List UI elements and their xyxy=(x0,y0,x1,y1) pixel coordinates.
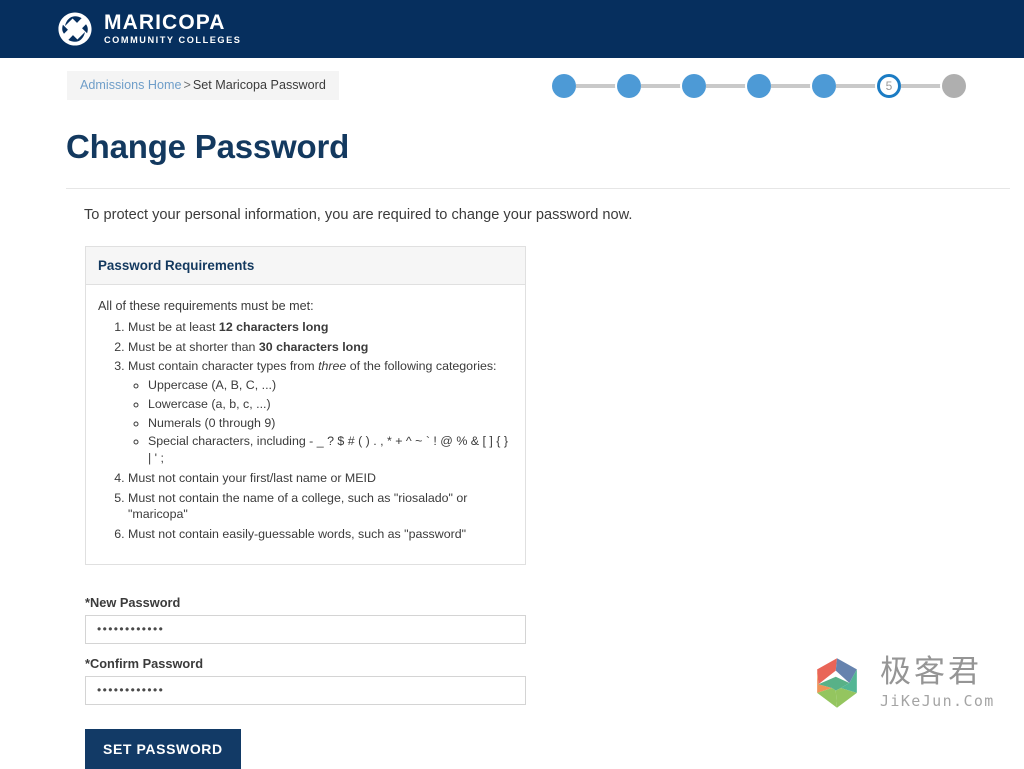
site-header: MARICOPA COMMUNITY COLLEGES xyxy=(0,0,1024,58)
requirement-item-4: Must not contain your first/last name or… xyxy=(128,470,513,487)
pinwheel-hexagon-logo-icon xyxy=(806,652,868,714)
title-divider xyxy=(66,188,1010,189)
requirement-item-5: Must not contain the name of a college, … xyxy=(128,490,513,523)
stepper-connector-4 xyxy=(771,84,812,88)
confirm-password-label: *Confirm Password xyxy=(85,656,526,671)
requirement-item-2: Must be at shorter than 30 characters lo… xyxy=(128,339,513,356)
breadcrumb-link-admissions-home[interactable]: Admissions Home xyxy=(80,78,181,92)
stepper-step-5[interactable] xyxy=(812,74,836,98)
requirement-item-6: Must not contain easily-guessable words,… xyxy=(128,526,513,543)
password-requirements-panel: Password Requirements All of these requi… xyxy=(85,246,526,565)
new-password-label: *New Password xyxy=(85,595,526,610)
breadcrumb-current-page: Set Maricopa Password xyxy=(193,78,326,92)
requirement-3-italic: three xyxy=(318,359,346,373)
brand-subtitle: COMMUNITY COLLEGES xyxy=(104,36,241,45)
watermark-text: 极客君 JiKeJun.Com xyxy=(880,657,995,709)
requirements-list: Must be at least 12 characters long Must… xyxy=(98,319,513,543)
field-spacer xyxy=(85,644,526,656)
stepper-connector-6 xyxy=(901,84,942,88)
password-requirements-heading: Password Requirements xyxy=(86,247,525,285)
change-password-form: *New Password *Confirm Password SET PASS… xyxy=(85,595,526,769)
category-item-uppercase: Uppercase (A, B, C, ...) xyxy=(148,377,513,394)
breadcrumb: Admissions Home>Set Maricopa Password xyxy=(67,71,339,100)
category-item-lowercase: Lowercase (a, b, c, ...) xyxy=(148,396,513,413)
requirement-2-bold: 30 characters long xyxy=(259,340,369,354)
page-title: Change Password xyxy=(66,128,1024,166)
maricopa-circle-logo-icon xyxy=(57,11,93,47)
intro-text: To protect your personal information, yo… xyxy=(84,207,1024,223)
requirement-1-text: Must be at least xyxy=(128,320,219,334)
watermark: 极客君 JiKeJun.Com xyxy=(806,652,995,714)
stepper-step-7[interactable] xyxy=(942,74,966,98)
brand-text: MARICOPA COMMUNITY COLLEGES xyxy=(104,12,241,45)
top-strip: Admissions Home>Set Maricopa Password 5 xyxy=(0,58,1024,108)
stepper-connector-3 xyxy=(706,84,747,88)
brand-logo[interactable]: MARICOPA COMMUNITY COLLEGES xyxy=(57,11,241,47)
stepper-step-3[interactable] xyxy=(682,74,706,98)
requirement-item-1: Must be at least 12 characters long xyxy=(128,319,513,336)
breadcrumb-separator: > xyxy=(183,78,190,92)
stepper-step-1[interactable] xyxy=(552,74,576,98)
character-categories-list: Uppercase (A, B, C, ...) Lowercase (a, b… xyxy=(128,377,513,467)
requirements-lead: All of these requirements must be met: xyxy=(98,299,513,313)
stepper-connector-5 xyxy=(836,84,877,88)
confirm-password-input[interactable] xyxy=(85,676,526,705)
category-item-numerals: Numerals (0 through 9) xyxy=(148,415,513,432)
new-password-input[interactable] xyxy=(85,615,526,644)
stepper-step-current[interactable]: 5 xyxy=(877,74,901,98)
requirement-1-bold: 12 characters long xyxy=(219,320,329,334)
requirement-2-text: Must be at shorter than xyxy=(128,340,259,354)
watermark-en-text: JiKeJun.Com xyxy=(880,694,995,709)
brand-name: MARICOPA xyxy=(104,12,241,33)
password-requirements-body: All of these requirements must be met: M… xyxy=(86,285,525,564)
category-item-special: Special characters, including - _ ? $ # … xyxy=(148,433,513,466)
stepper-step-4[interactable] xyxy=(747,74,771,98)
requirement-3-text-before: Must contain character types from xyxy=(128,359,318,373)
stepper-step-2[interactable] xyxy=(617,74,641,98)
watermark-cn-text: 极客君 xyxy=(880,657,995,688)
stepper-connector-1 xyxy=(576,84,617,88)
requirement-item-3: Must contain character types from three … xyxy=(128,358,513,466)
stepper-connector-2 xyxy=(641,84,682,88)
progress-stepper: 5 xyxy=(552,74,966,98)
requirement-3-text-after: of the following categories: xyxy=(346,359,496,373)
